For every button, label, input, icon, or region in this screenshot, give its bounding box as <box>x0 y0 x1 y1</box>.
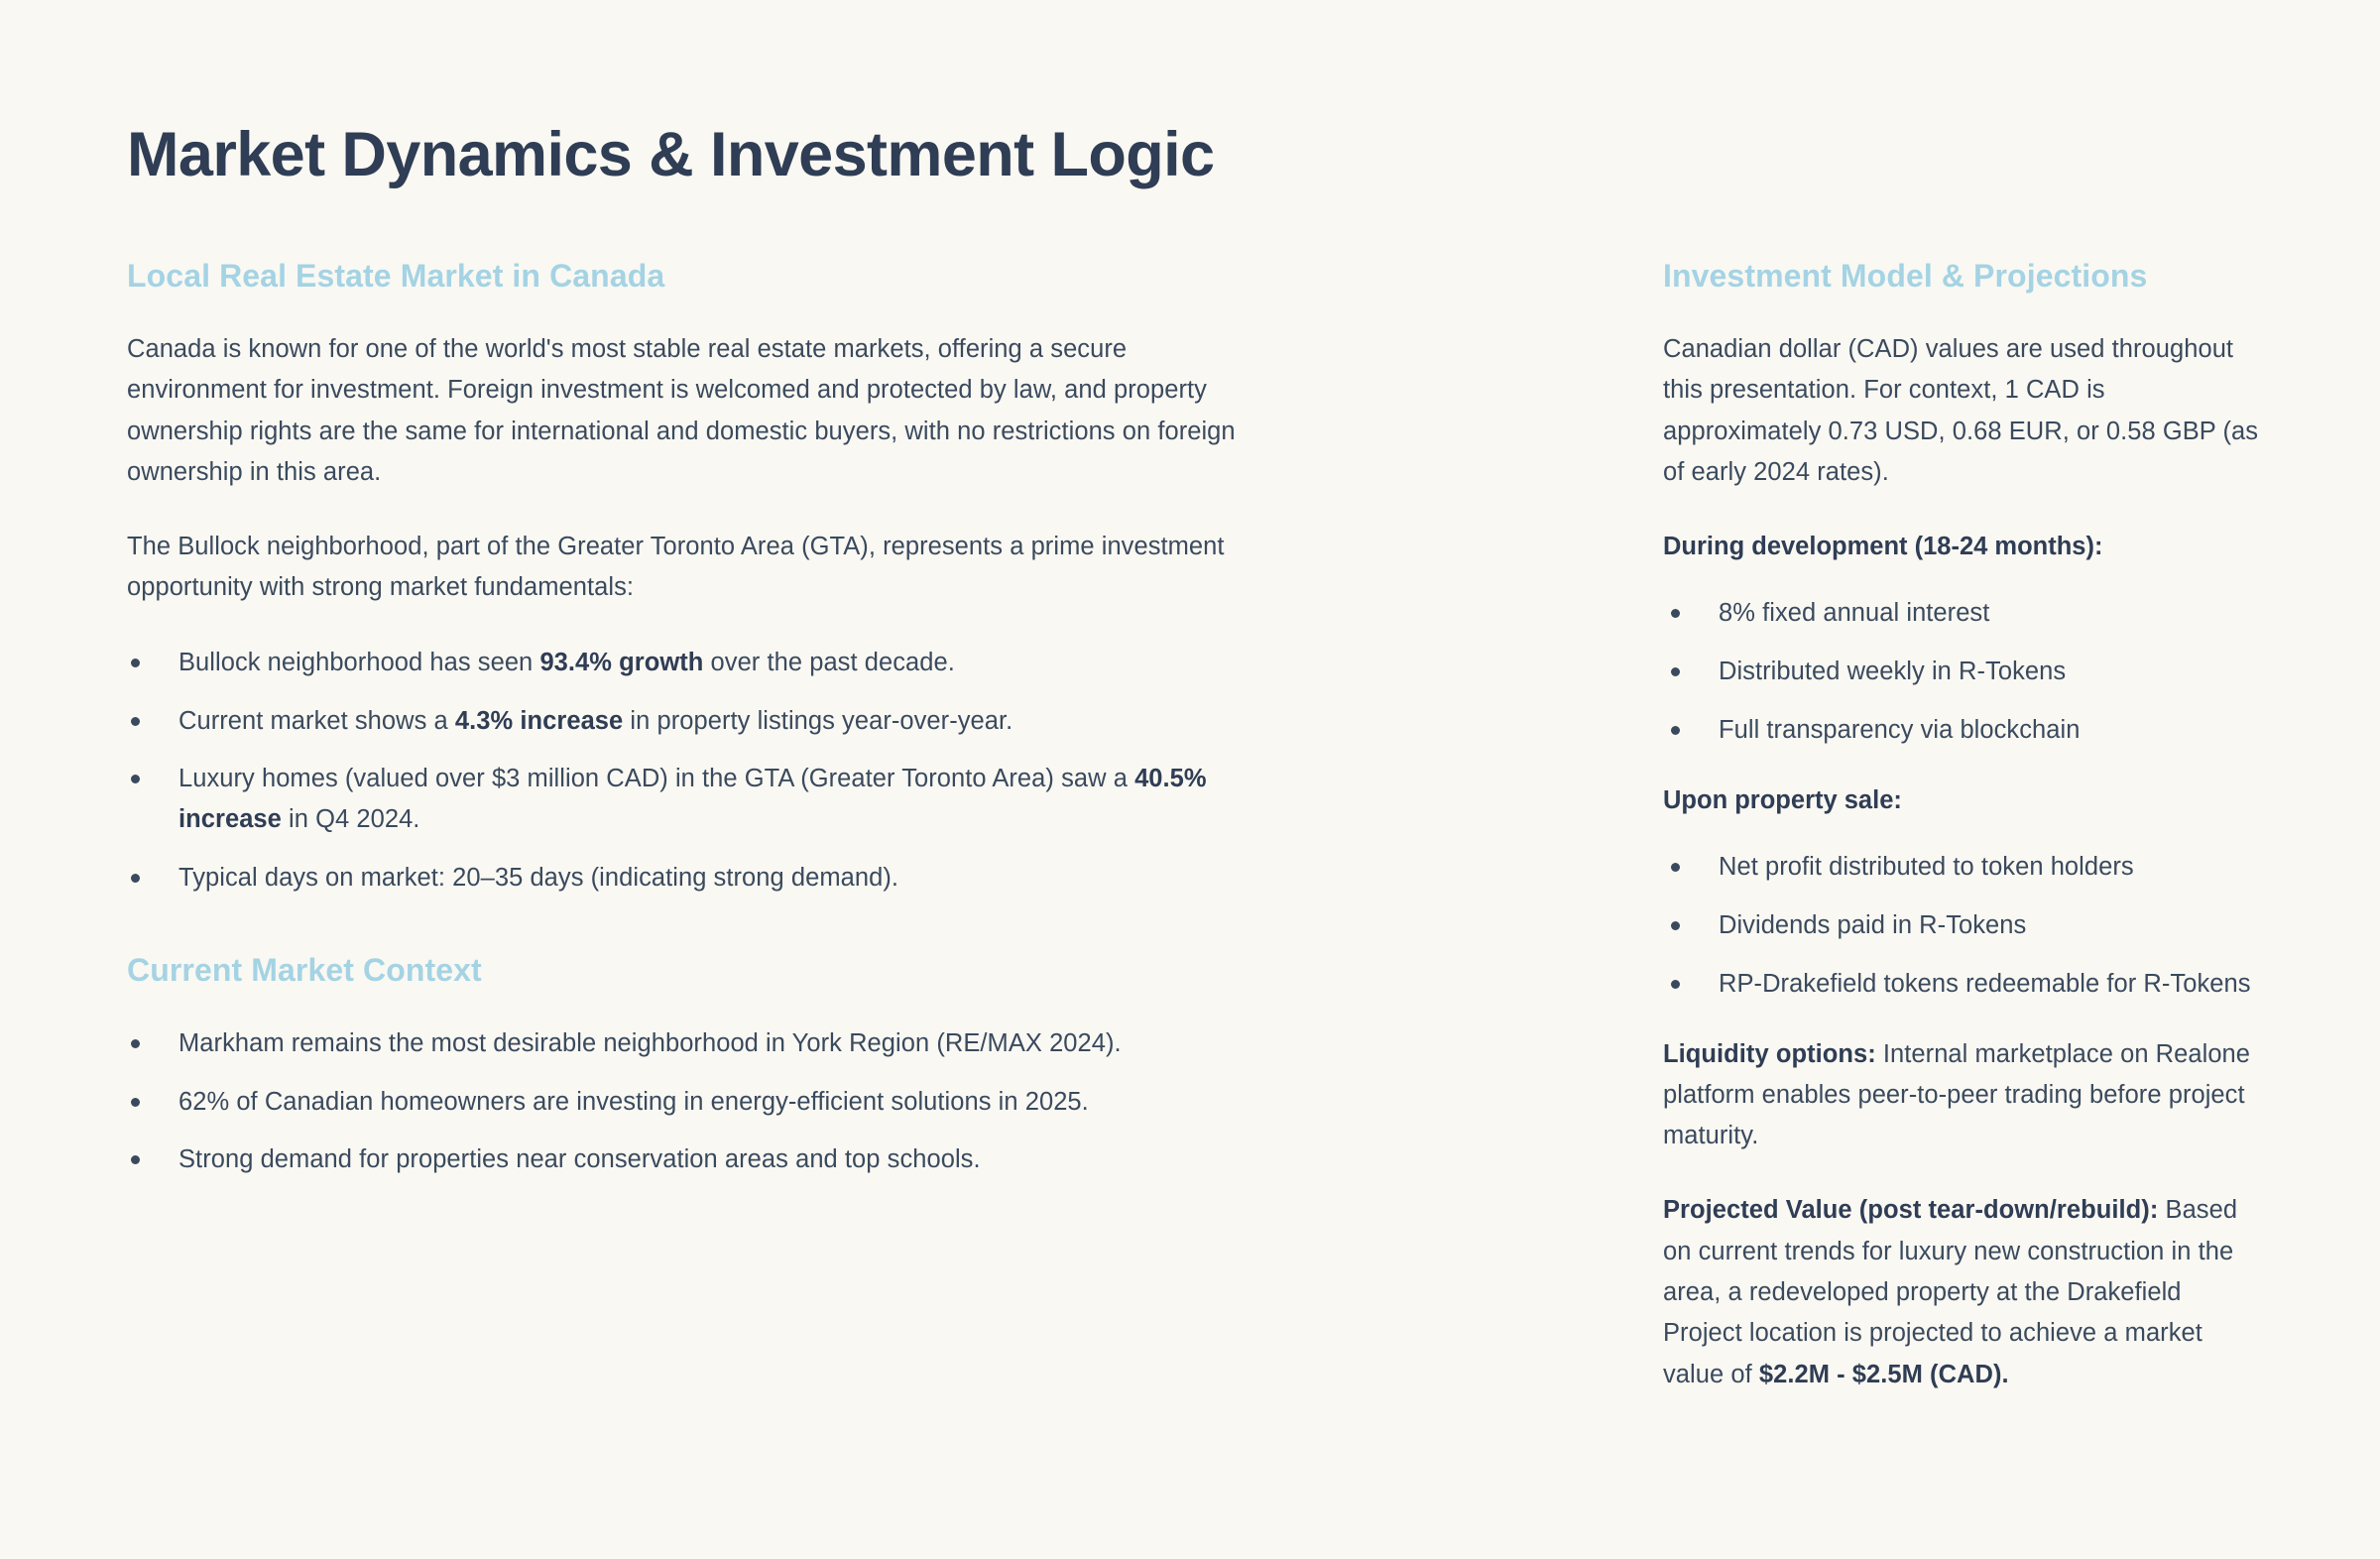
list-item-label: RP-Drakefield tokens redeemable for R-To… <box>1719 970 2251 998</box>
list-item: RP-Drakefield tokens redeemable for R-To… <box>1663 964 2261 1005</box>
bullet-dot-icon <box>131 659 140 667</box>
list-item-post: over the past decade. <box>703 649 954 676</box>
bullet-dot-icon <box>131 1039 140 1048</box>
bullet-dot-icon <box>131 1098 140 1107</box>
projected-value-label: Projected Value (post tear-down/rebuild)… <box>1663 1196 2158 1224</box>
list-item-pre: Current market shows a <box>178 707 455 735</box>
list-item-pre: Bullock neighborhood has seen <box>178 649 539 676</box>
list-item: Bullock neighborhood has seen 93.4% grow… <box>127 643 1269 683</box>
list-item: Dividends paid in R-Tokens <box>1663 905 2261 946</box>
section-heading-local-real-estate: Local Real Estate Market in Canada <box>127 256 1269 296</box>
bullet-dot-icon <box>131 717 140 726</box>
bullet-dot-icon <box>131 874 140 883</box>
paragraph-cad-values: Canadian dollar (CAD) values are used th… <box>1663 329 2261 493</box>
projected-value-amount: $2.2M - $2.5M (CAD). <box>1759 1361 2009 1388</box>
liquidity-options-label: Liquidity options: <box>1663 1040 1876 1068</box>
list-item-label: Full transparency via blockchain <box>1719 716 2080 744</box>
list-item: 8% fixed annual interest <box>1663 593 2261 634</box>
list-item: Luxury homes (valued over $3 million CAD… <box>127 759 1269 840</box>
bullet-dot-icon <box>1671 863 1680 872</box>
list-item-pre: Markham remains the most desirable neigh… <box>178 1029 1122 1057</box>
bullet-dot-icon <box>131 775 140 783</box>
list-item-label: Net profit distributed to token holders <box>1719 853 2134 881</box>
slide-root: Market Dynamics & Investment Logic Local… <box>0 0 2380 1559</box>
section-heading-investment-model: Investment Model & Projections <box>1663 256 2261 296</box>
bullet-dot-icon <box>1671 667 1680 676</box>
lead-in-upon-property-sale: Upon property sale: <box>1663 780 2261 821</box>
list-item-emphasis: 4.3% increase <box>455 707 623 735</box>
list-item-post: in property listings year-over-year. <box>623 707 1012 735</box>
paragraph-bullock-intro: The Bullock neighborhood, part of the Gr… <box>127 527 1269 609</box>
list-item-pre: Luxury homes (valued over $3 million CAD… <box>178 765 1134 792</box>
list-item: Markham remains the most desirable neigh… <box>127 1023 1269 1064</box>
lead-in-during-development: During development (18-24 months): <box>1663 527 2261 567</box>
market-fundamentals-list: Bullock neighborhood has seen 93.4% grow… <box>127 643 1269 899</box>
page-title: Market Dynamics & Investment Logic <box>127 119 1214 190</box>
paragraph-projected-value: Projected Value (post tear-down/rebuild)… <box>1663 1190 2261 1394</box>
list-item: Typical days on market: 20–35 days (indi… <box>127 858 1269 899</box>
paragraph-canada-market: Canada is known for one of the world's m… <box>127 329 1269 493</box>
bullet-dot-icon <box>1671 980 1680 989</box>
list-item: Current market shows a 4.3% increase in … <box>127 701 1269 742</box>
bullet-dot-icon <box>1671 609 1680 618</box>
list-item-post: in Q4 2024. <box>282 805 420 833</box>
current-market-context-list: Markham remains the most desirable neigh… <box>127 1023 1269 1180</box>
section-heading-current-market-context: Current Market Context <box>127 950 1269 990</box>
left-column: Local Real Estate Market in Canada Canad… <box>0 256 1329 1210</box>
list-item-pre: Typical days on market: 20–35 days (indi… <box>178 864 898 892</box>
right-column: Investment Model & Projections Canadian … <box>1329 256 2380 1395</box>
during-development-list: 8% fixed annual interest Distributed wee… <box>1663 593 2261 750</box>
list-item: Distributed weekly in R-Tokens <box>1663 652 2261 692</box>
two-column-layout: Local Real Estate Market in Canada Canad… <box>0 256 2380 1395</box>
list-item-emphasis: 93.4% growth <box>539 649 703 676</box>
paragraph-liquidity-options: Liquidity options: Internal marketplace … <box>1663 1034 2261 1157</box>
bullet-dot-icon <box>131 1155 140 1164</box>
upon-property-sale-list: Net profit distributed to token holders … <box>1663 847 2261 1004</box>
bullet-dot-icon <box>1671 921 1680 930</box>
list-item: Net profit distributed to token holders <box>1663 847 2261 888</box>
list-item: Strong demand for properties near conser… <box>127 1139 1269 1180</box>
list-item-pre: 62% of Canadian homeowners are investing… <box>178 1088 1089 1116</box>
list-item-pre: Strong demand for properties near conser… <box>178 1145 981 1173</box>
list-item-label: Distributed weekly in R-Tokens <box>1719 658 2066 685</box>
list-item: 62% of Canadian homeowners are investing… <box>127 1082 1269 1123</box>
list-item: Full transparency via blockchain <box>1663 710 2261 751</box>
bullet-dot-icon <box>1671 726 1680 735</box>
list-item-label: 8% fixed annual interest <box>1719 599 1989 627</box>
list-item-label: Dividends paid in R-Tokens <box>1719 911 2026 939</box>
